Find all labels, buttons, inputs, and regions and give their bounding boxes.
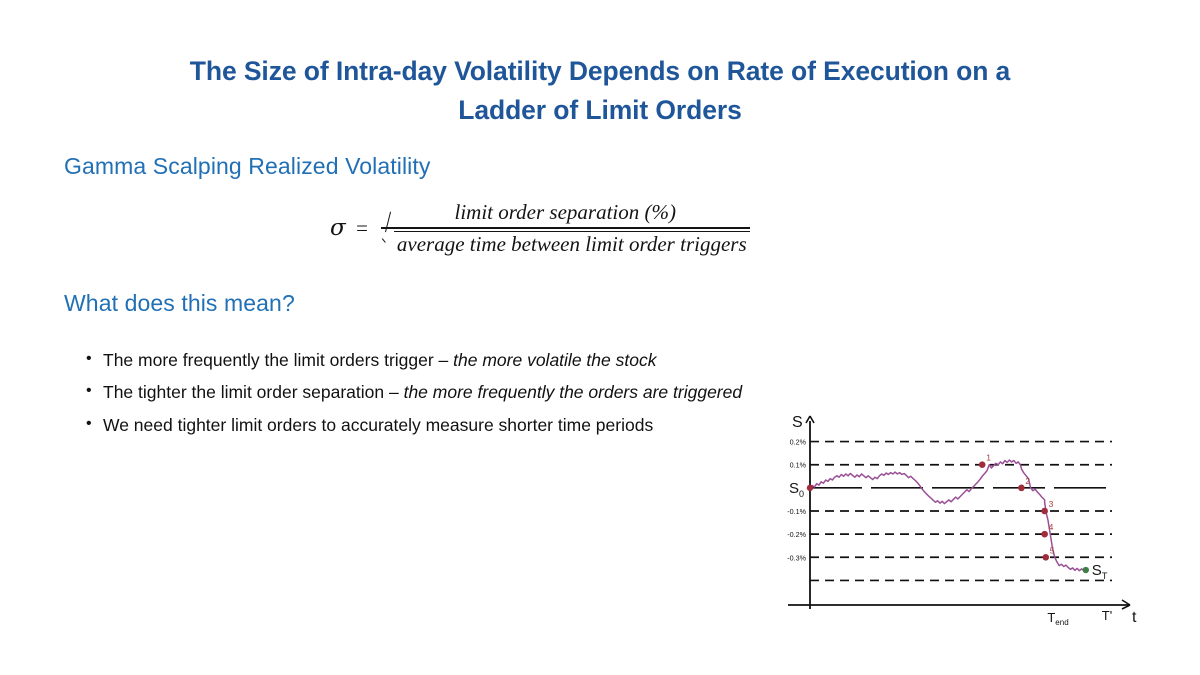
- list-item: We need tighter limit orders to accurate…: [84, 409, 742, 441]
- radical-icon: [381, 230, 394, 257]
- trigger-point-marker: [1018, 485, 1025, 492]
- chart-canvas: 0.2%0.1%-0.1%-0.2%-0.3%S0StTendT'12345ST: [780, 402, 1200, 642]
- trigger-point-marker: [1042, 554, 1049, 561]
- price-path-line: [810, 460, 1086, 571]
- x-axis-tick-label-tend: Tend: [1047, 610, 1068, 627]
- trigger-point-label: 1: [986, 453, 991, 463]
- trigger-point-label: 2: [1025, 476, 1030, 486]
- y-axis-tick-label: -0.2%: [787, 530, 806, 539]
- list-item: The tighter the limit order separation –…: [84, 376, 742, 408]
- bullet-text-italic: the more volatile the stock: [453, 350, 656, 370]
- page-title: The Size of Intra-day Volatility Depends…: [150, 52, 1050, 130]
- bullet-text-plain: The more frequently the limit orders tri…: [103, 350, 453, 370]
- x-axis-tick-label-tprime: T': [1102, 608, 1112, 623]
- volatility-formula: σ = limit order separation (%) average t…: [330, 200, 750, 257]
- y-axis-tick-label: 0.2%: [790, 438, 807, 447]
- trigger-point-marker: [979, 461, 986, 468]
- x-axis-title: t: [1132, 609, 1137, 626]
- y-axis-tick-label: -0.1%: [787, 507, 806, 516]
- list-item: The more frequently the limit orders tri…: [84, 344, 742, 376]
- y-axis-tick-label: -0.3%: [787, 553, 806, 562]
- bullet-text-plain: We need tighter limit orders to accurate…: [103, 415, 653, 435]
- section-heading-gamma-scalping: Gamma Scalping Realized Volatility: [64, 153, 430, 180]
- square-root-group: average time between limit order trigger…: [381, 230, 750, 257]
- price-path-chart: 0.2%0.1%-0.1%-0.2%-0.3%S0StTendT'12345ST: [780, 402, 1200, 642]
- sigma-symbol: σ: [330, 215, 355, 241]
- formula-denominator-row: average time between limit order trigger…: [381, 229, 750, 257]
- end-price-label: ST: [1092, 562, 1108, 581]
- trigger-point-label: 4: [1049, 522, 1054, 532]
- trigger-point-label: 3: [1049, 499, 1054, 509]
- formula-fraction: limit order separation (%) average time …: [381, 200, 750, 257]
- bullet-list: The more frequently the limit orders tri…: [84, 344, 742, 441]
- end-point-marker: [1083, 567, 1089, 573]
- equals-symbol: =: [355, 216, 381, 241]
- bullet-text-plain: The tighter the limit order separation –: [103, 382, 404, 402]
- section-heading-what-does-this-mean: What does this mean?: [64, 290, 295, 317]
- y-axis-tick-label: 0.1%: [790, 461, 807, 470]
- trigger-point-label: 5: [1050, 545, 1055, 555]
- formula-denominator: average time between limit order trigger…: [394, 231, 750, 257]
- origin-price-label: S0: [789, 480, 804, 499]
- trigger-point-marker: [1041, 531, 1048, 538]
- bullet-text-italic: the more frequently the orders are trigg…: [404, 382, 743, 402]
- trigger-point-marker: [1041, 508, 1048, 515]
- formula-numerator: limit order separation (%): [381, 200, 750, 227]
- y-axis-title: S: [792, 414, 803, 431]
- start-point-marker: [807, 485, 813, 491]
